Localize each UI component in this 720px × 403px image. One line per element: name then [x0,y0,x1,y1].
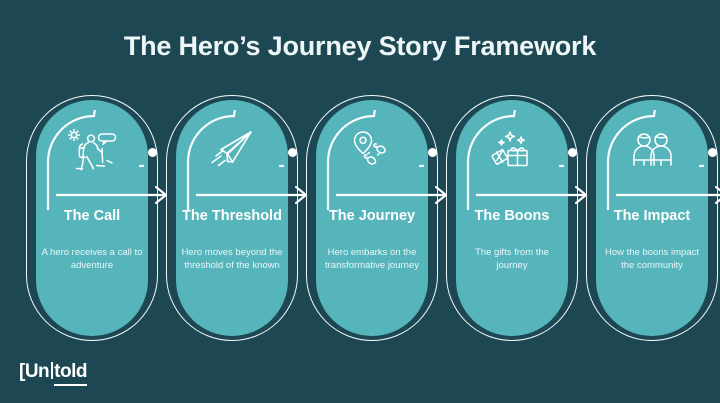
stage-description: How the boons impact the community [600,246,704,272]
stage-title: The Threshold [178,208,286,225]
brand-logo[interactable]: [ Un told [19,360,87,386]
logo-un: Un [25,361,49,383]
arc-terminator-dot [148,148,157,157]
gift-sparkles-icon [456,114,568,188]
logo-divider [51,362,53,379]
stage-row: The Call A hero receives a call to adven… [0,100,720,345]
stage-description: Hero moves beyond the threshold of the k… [180,246,284,272]
stage-description: The gifts from the journey [460,246,564,272]
stage-title: The Call [38,208,146,225]
stage-description: Hero embarks on the transformative journ… [320,246,424,272]
stage-title: The Impact [598,208,706,225]
stage-card-the-call[interactable]: The Call A hero receives a call to adven… [36,100,148,340]
stage-card-the-threshold[interactable]: The Threshold Hero moves beyond the thre… [176,100,288,340]
page-title: The Hero’s Journey Story Framework [0,30,720,62]
arc-terminator-dot [568,148,577,157]
map-pin-footprints-icon [316,114,428,188]
arc-terminator-dot [428,148,437,157]
logo-told: told [54,361,87,386]
infographic-canvas: The Hero’s Journey Story Framework [0,0,720,403]
stage-card-the-impact[interactable]: The Impact How the boons impact the comm… [596,100,708,340]
stage-title: The Boons [458,208,566,225]
paper-plane-icon [176,114,288,188]
arc-terminator-dot [708,148,717,157]
stage-card-the-journey[interactable]: The Journey Hero embarks on the transfor… [316,100,428,340]
arc-terminator-dot [288,148,297,157]
stage-card-the-boons[interactable]: The Boons The gifts from the journey [456,100,568,340]
stage-title: The Journey [318,208,426,225]
stage-description: A hero receives a call to adventure [40,246,144,272]
hiker-with-backpack-icon [36,114,148,188]
two-people-icon [596,114,708,188]
